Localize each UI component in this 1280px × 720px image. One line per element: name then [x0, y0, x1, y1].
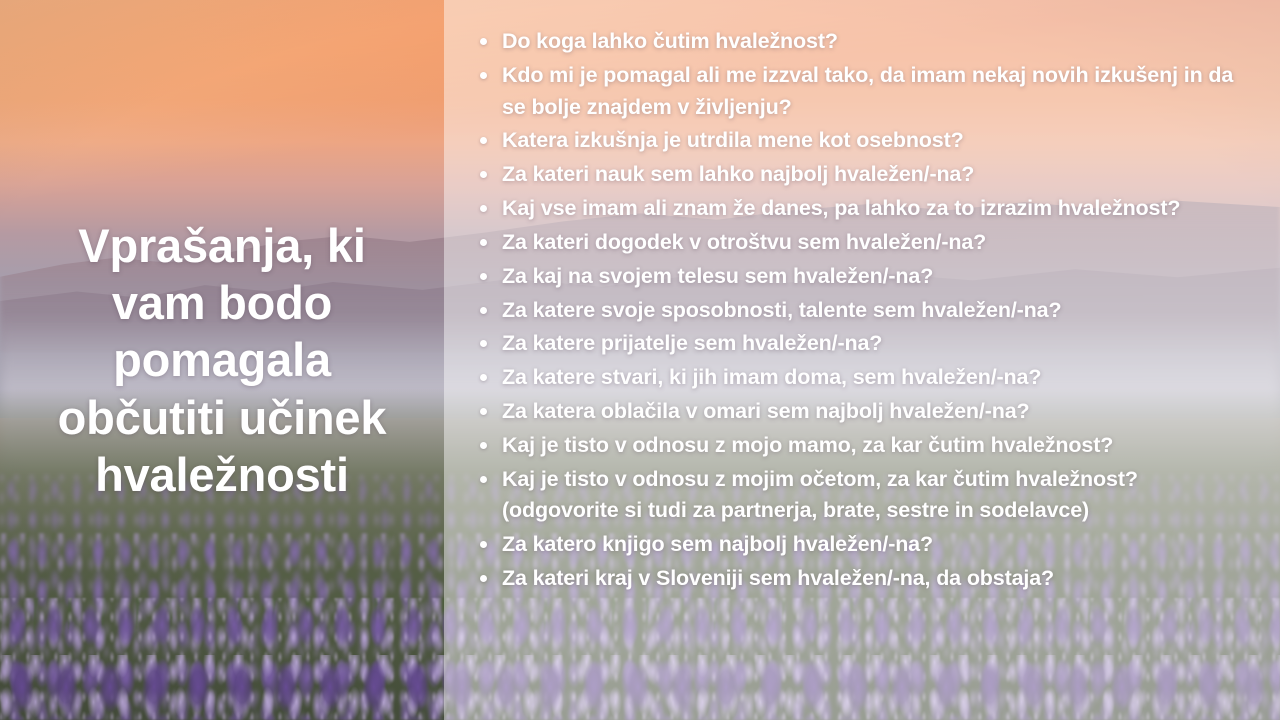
- list-item: Kdo mi je pomagal ali me izzval tako, da…: [472, 60, 1234, 124]
- list-item: Kaj vse imam ali znam že danes, pa lahko…: [472, 193, 1234, 225]
- list-item: Katera izkušnja je utrdila mene kot oseb…: [472, 125, 1234, 157]
- questions-list: Do koga lahko čutim hvaležnost? Kdo mi j…: [472, 26, 1234, 595]
- list-item: Za katero knjigo sem najbolj hvaležen/-n…: [472, 529, 1234, 561]
- list-item: Kaj je tisto v odnosu z mojim očetom, za…: [472, 464, 1234, 528]
- list-item: Za kateri kraj v Sloveniji sem hvaležen/…: [472, 563, 1234, 595]
- list-item: Za katere prijatelje sem hvaležen/-na?: [472, 328, 1234, 360]
- title-column: Vprašanja, ki vam bodo pomagala občutiti…: [0, 0, 444, 720]
- list-item: Za kaj na svojem telesu sem hvaležen/-na…: [472, 261, 1234, 293]
- slide-canvas: Vprašanja, ki vam bodo pomagala občutiti…: [0, 0, 1280, 720]
- list-item: Za katere stvari, ki jih imam doma, sem …: [472, 362, 1234, 394]
- list-item: Kaj je tisto v odnosu z mojo mamo, za ka…: [472, 430, 1234, 462]
- list-item: Za katera oblačila v omari sem najbolj h…: [472, 396, 1234, 428]
- questions-column: Do koga lahko čutim hvaležnost? Kdo mi j…: [444, 0, 1280, 720]
- page-title: Vprašanja, ki vam bodo pomagala občutiti…: [18, 217, 426, 504]
- list-item: Za kateri nauk sem lahko najbolj hvaleže…: [472, 159, 1234, 191]
- list-item: Za katere svoje sposobnosti, talente sem…: [472, 295, 1234, 327]
- list-item: Za kateri dogodek v otroštvu sem hvaleže…: [472, 227, 1234, 259]
- list-item: Do koga lahko čutim hvaležnost?: [472, 26, 1234, 58]
